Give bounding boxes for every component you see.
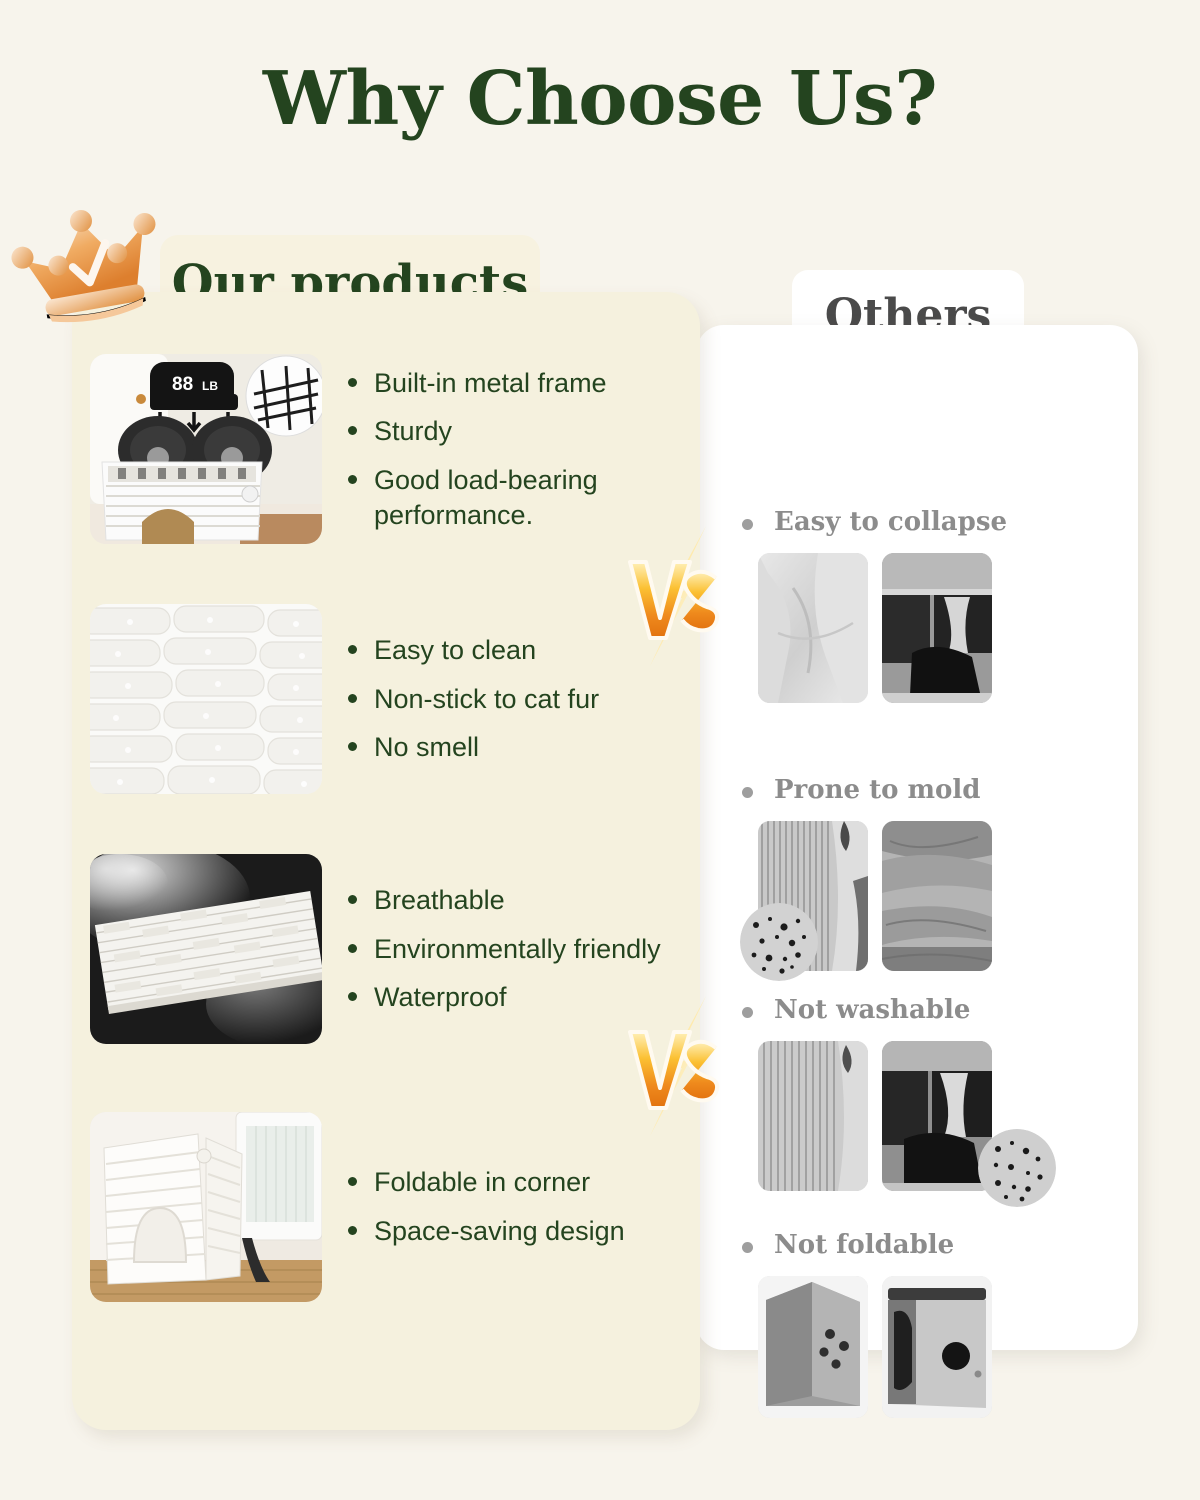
collapsed-dark-box-photo [882,553,992,703]
list-item: Non-stick to cat fur [346,682,690,717]
our-feature-bullets: Foldable in corner Space-saving design [346,1165,690,1248]
list-item: Space-saving design [346,1214,690,1249]
page-title: Why Choose Us? [0,0,1200,136]
our-feature-row: Foldable in corner Space-saving design [90,1112,690,1302]
comparison-area: Our products Others Easy to collapse [0,230,1200,1430]
rigid-box-photo [758,1276,868,1418]
rigid-metal-box-photo [882,1276,992,1418]
others-image-pair [740,1276,1110,1418]
others-group-label: Prone to mold [740,775,1110,805]
others-group-label: Not foldable [740,1230,1110,1260]
others-image-pair [740,553,1110,703]
mold-stained-surface-photo [882,821,992,971]
vs-badge-top [620,520,730,670]
others-panel: Easy to collapse [696,325,1138,1350]
folded-litter-box-corner-photo [90,1112,322,1302]
collapsed-fabric-box-photo [758,553,868,703]
mold-spots-closeup [740,903,818,981]
dirt-spots-closeup [978,1129,1056,1207]
list-item: Foldable in corner [346,1165,690,1200]
unwashable-dark-box-photo [882,1041,992,1191]
others-image-pair [740,1041,1110,1191]
list-item: Built-in metal frame [346,366,690,401]
svg-text:LB: LB [202,379,218,393]
list-item: No smell [346,730,690,765]
our-feature-row: Easy to clean Non-stick to cat fur No sm… [90,604,690,794]
vs-badge-bottom [620,990,730,1140]
others-group-mold: Prone to mold [740,775,1110,971]
others-group-collapse: Easy to collapse [740,507,1110,703]
our-feature-row: 88 LB [90,354,690,544]
others-group-label: Easy to collapse [740,507,1110,537]
breathable-steam-panel-photo [90,854,322,1044]
others-image-pair [740,821,1110,971]
crown-check-icon [6,202,176,332]
our-products-panel: 88 LB [72,292,700,1430]
others-group-label: Not washable [740,995,1110,1025]
our-feature-bullets: Built-in metal frame Sturdy Good load-be… [346,366,690,532]
others-group-washable: Not washable [740,995,1110,1191]
our-feature-row: Breathable Environmentally friendly Wate… [90,854,690,1044]
svg-text:88: 88 [172,374,193,395]
list-item: Sturdy [346,414,690,449]
list-item: Environmentally friendly [346,932,690,967]
others-group-foldable: Not foldable [740,1230,1110,1418]
litter-box-weight-test-photo: 88 LB [90,354,322,544]
unwashable-ribbed-fabric-photo [758,1041,868,1191]
woven-rattan-texture-photo [90,604,322,794]
list-item: Breathable [346,883,690,918]
